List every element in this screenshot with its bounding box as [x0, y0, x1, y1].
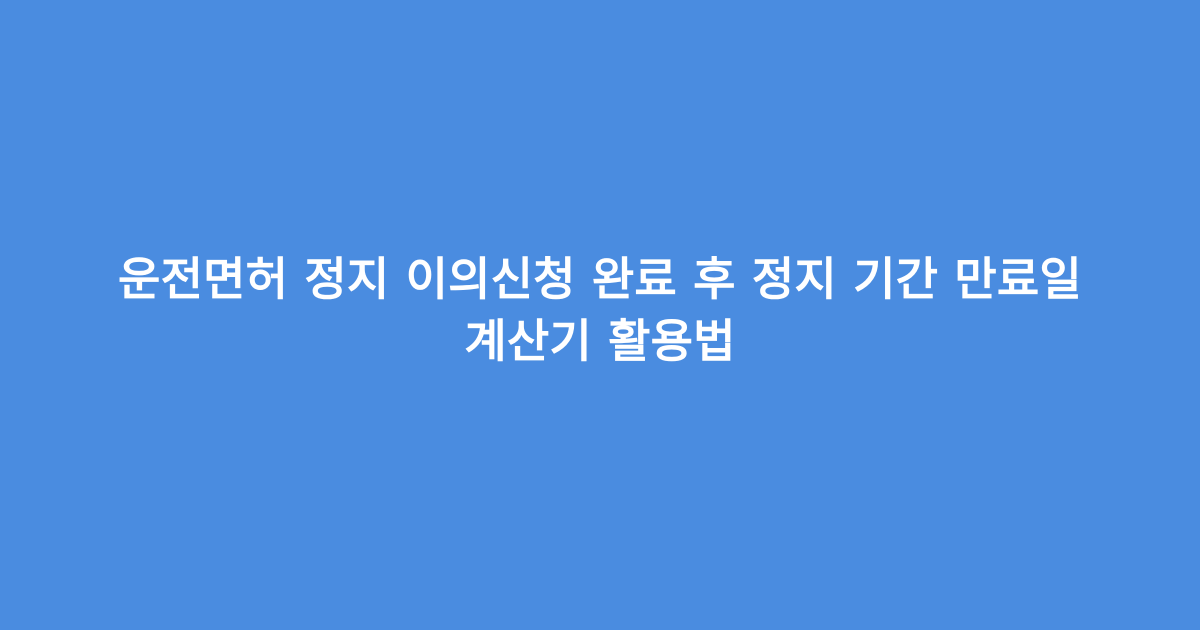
og-image-card: 운전면허 정지 이의신청 완료 후 정지 기간 만료일 계산기 활용법 [0, 0, 1200, 630]
page-title: 운전면허 정지 이의신청 완료 후 정지 기간 만료일 계산기 활용법 [90, 248, 1110, 372]
title-block: 운전면허 정지 이의신청 완료 후 정지 기간 만료일 계산기 활용법 [50, 248, 1150, 372]
